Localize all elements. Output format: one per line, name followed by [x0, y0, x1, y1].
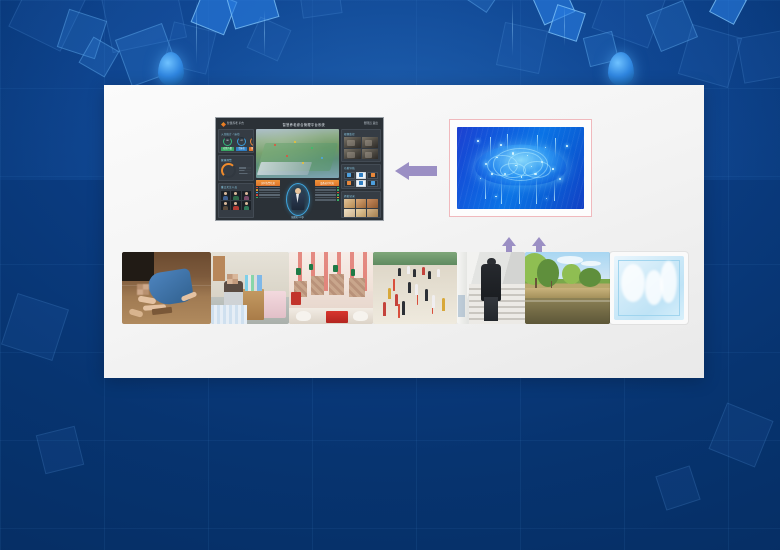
- camera-grid[interactable]: [344, 137, 378, 159]
- health-warning-widget[interactable]: 健康预警: [218, 155, 254, 181]
- function-nav-widget[interactable]: 功能导航: [341, 164, 381, 190]
- resident-avatar: [291, 188, 304, 210]
- center-info-strip: 实时告警信息: [256, 180, 339, 218]
- gauge-row: 86 在院人数 42 空床位 07 预警数: [221, 137, 251, 151]
- device-status-header: 设备运行状态: [315, 180, 339, 186]
- photo-stairs-walking[interactable]: [457, 252, 525, 324]
- slide-root: 智慧养老 平台 智慧养老综合管理平台系统 管理员 退出 入住统计 / 床位 86: [0, 0, 780, 550]
- resident-highlight-ellipse: [286, 183, 310, 216]
- health-donut-chart: [221, 163, 236, 178]
- watchlist-person-grid[interactable]: [221, 191, 251, 210]
- person-thumbnail[interactable]: [231, 201, 240, 210]
- occupancy-gauges-title: 入住统计 / 床位: [221, 132, 251, 136]
- dashboard-logo-text: 智慧养老 平台: [227, 123, 244, 126]
- data-beam: [501, 178, 502, 204]
- person-thumbnail[interactable]: [242, 191, 251, 200]
- device-row[interactable]: [315, 194, 339, 196]
- photo-plaza-crowd[interactable]: [373, 252, 457, 324]
- nav-icon-cell[interactable]: [367, 172, 378, 179]
- gauge-ring-blue: 42: [237, 137, 246, 146]
- person-thumbnail[interactable]: [242, 201, 251, 210]
- top-row: 智慧养老 平台 智慧养老综合管理平台系统 管理员 退出 入住统计 / 床位 86: [104, 85, 704, 235]
- nav-icon-cell[interactable]: [344, 180, 355, 187]
- dashboard-header-right: 管理员 退出: [364, 123, 378, 126]
- capture-thumbnail[interactable]: [344, 209, 355, 218]
- camera-feed[interactable]: [344, 149, 361, 160]
- capture-thumbnail[interactable]: [356, 209, 367, 218]
- gauge-ring-orange: 07: [250, 137, 254, 146]
- data-flow-left-arrow: [393, 162, 439, 180]
- neural-node: [477, 140, 479, 142]
- photo-blank-placeholder[interactable]: [610, 252, 688, 324]
- health-warning-title: 健康预警: [221, 158, 251, 162]
- camera-feed[interactable]: [362, 137, 379, 148]
- neural-node: [496, 157, 498, 159]
- neural-node: [566, 145, 568, 147]
- ai-brain-image-frame[interactable]: [449, 119, 592, 217]
- neural-node: [521, 176, 523, 178]
- dashboard-right-column: 视频监控 功能导航: [341, 129, 381, 218]
- gauge-vacant[interactable]: 42 空床位: [236, 137, 247, 151]
- data-beam: [507, 134, 508, 152]
- avatar-body: [291, 194, 304, 210]
- alerts-rows: [256, 187, 280, 218]
- content-card: 智慧养老 平台 智慧养老综合管理平台系统 管理员 退出 入住统计 / 床位 86: [104, 85, 704, 378]
- nav-icon-cell[interactable]: [344, 172, 355, 179]
- photo-image: [289, 252, 373, 324]
- photo-riverside-park[interactable]: [525, 252, 610, 324]
- capture-thumbnail[interactable]: [344, 199, 355, 208]
- function-icon-grid[interactable]: [344, 172, 378, 187]
- gauge-ring-green: 86: [223, 137, 232, 146]
- neural-node: [491, 173, 493, 175]
- capture-photo-grid[interactable]: [344, 199, 378, 218]
- device-row[interactable]: [315, 197, 339, 199]
- alert-row[interactable]: [256, 194, 280, 196]
- alert-row[interactable]: [256, 197, 280, 199]
- gauge-label-alerts: 预警数: [249, 147, 254, 151]
- photo-resident-bedside[interactable]: [211, 252, 289, 324]
- alert-row[interactable]: [256, 192, 280, 194]
- capture-thumbnail[interactable]: [356, 199, 367, 208]
- resident-caption: 张建国 / 82岁: [291, 215, 304, 219]
- occupancy-gauges-widget[interactable]: 入住统计 / 床位 86 在院人数 42 空床位: [218, 129, 254, 153]
- logo-diamond-icon: [221, 122, 226, 127]
- function-nav-title: 功能导航: [344, 166, 378, 170]
- health-legend-line: [239, 173, 251, 175]
- device-row[interactable]: [315, 187, 339, 189]
- photo-image: [614, 256, 684, 320]
- capture-thumbnail[interactable]: [367, 199, 378, 208]
- watchlist-widget[interactable]: 重点关注人员: [218, 183, 254, 218]
- dashboard-title: 智慧养老综合管理平台系统: [283, 122, 325, 127]
- nav-icon-cell-active[interactable]: [356, 180, 367, 187]
- realtime-alerts-list[interactable]: 实时告警信息: [256, 180, 280, 218]
- person-thumbnail[interactable]: [221, 201, 230, 210]
- gauge-alerts[interactable]: 07 预警数: [249, 137, 254, 151]
- device-rows: [315, 187, 339, 218]
- alerts-header: 实时告警信息: [256, 180, 280, 186]
- gauge-occupied[interactable]: 86 在院人数: [221, 137, 234, 151]
- data-beam: [537, 135, 538, 151]
- focused-resident-panel[interactable]: 张建国 / 82岁: [282, 180, 313, 218]
- scene-photo-strip: [122, 252, 688, 324]
- dashboard-body: 入住统计 / 床位 86 在院人数 42 空床位: [218, 129, 381, 218]
- alert-row[interactable]: [256, 189, 280, 191]
- camera-monitor-title: 视频监控: [344, 132, 378, 136]
- nav-icon-cell-active[interactable]: [356, 172, 367, 179]
- health-legend: [239, 167, 251, 174]
- camera-feed[interactable]: [344, 137, 361, 148]
- dashboard-logo: 智慧养老 平台: [221, 122, 244, 127]
- management-dashboard-screenshot[interactable]: 智慧养老 平台 智慧养老综合管理平台系统 管理员 退出 入住统计 / 床位 86: [215, 117, 384, 221]
- data-beam: [490, 137, 491, 158]
- photo-image: [211, 252, 289, 324]
- campus-3d-map[interactable]: [256, 129, 339, 178]
- neural-node: [500, 144, 502, 146]
- device-row[interactable]: [315, 192, 339, 194]
- photo-fall-detection-bedroom[interactable]: [122, 252, 211, 324]
- person-thumbnail[interactable]: [221, 191, 230, 200]
- photo-activity-room[interactable]: [289, 252, 373, 324]
- gauge-label-occupied: 在院人数: [221, 147, 234, 151]
- alert-row[interactable]: [256, 187, 280, 189]
- camera-monitor-widget[interactable]: 视频监控: [341, 129, 381, 162]
- data-beam: [519, 179, 520, 204]
- device-status-list[interactable]: 设备运行状态: [315, 180, 339, 218]
- dashboard-left-column: 入住统计 / 床位 86 在院人数 42 空床位: [218, 129, 254, 218]
- watchlist-title: 重点关注人员: [221, 185, 251, 189]
- health-legend-line: [239, 170, 251, 172]
- dashboard-center-column: 实时告警信息: [256, 129, 339, 218]
- ai-neural-network-brain-image: [457, 127, 584, 209]
- data-beam: [555, 138, 556, 158]
- capture-records-title: 抓拍记录: [344, 194, 378, 198]
- gauge-label-vacant: 空床位: [236, 147, 247, 151]
- health-legend-line: [239, 167, 251, 169]
- capture-thumbnail[interactable]: [367, 209, 378, 218]
- nav-icon-cell[interactable]: [367, 180, 378, 187]
- capture-records-widget[interactable]: 抓拍记录: [341, 191, 381, 218]
- donut-row: [221, 163, 251, 178]
- data-beam: [554, 179, 555, 200]
- neural-node: [552, 168, 554, 170]
- data-beam: [485, 175, 486, 200]
- photo-image: [373, 252, 457, 324]
- neural-node: [512, 152, 514, 154]
- photo-image: [122, 252, 211, 324]
- camera-feed[interactable]: [362, 149, 379, 160]
- photo-image: [457, 252, 525, 324]
- device-row[interactable]: [315, 199, 339, 201]
- person-thumbnail[interactable]: [231, 191, 240, 200]
- dashboard-header: 智慧养老 平台 智慧养老综合管理平台系统 管理员 退出: [218, 120, 381, 129]
- photo-image: [525, 252, 610, 324]
- device-row[interactable]: [315, 189, 339, 191]
- data-beam: [536, 176, 537, 204]
